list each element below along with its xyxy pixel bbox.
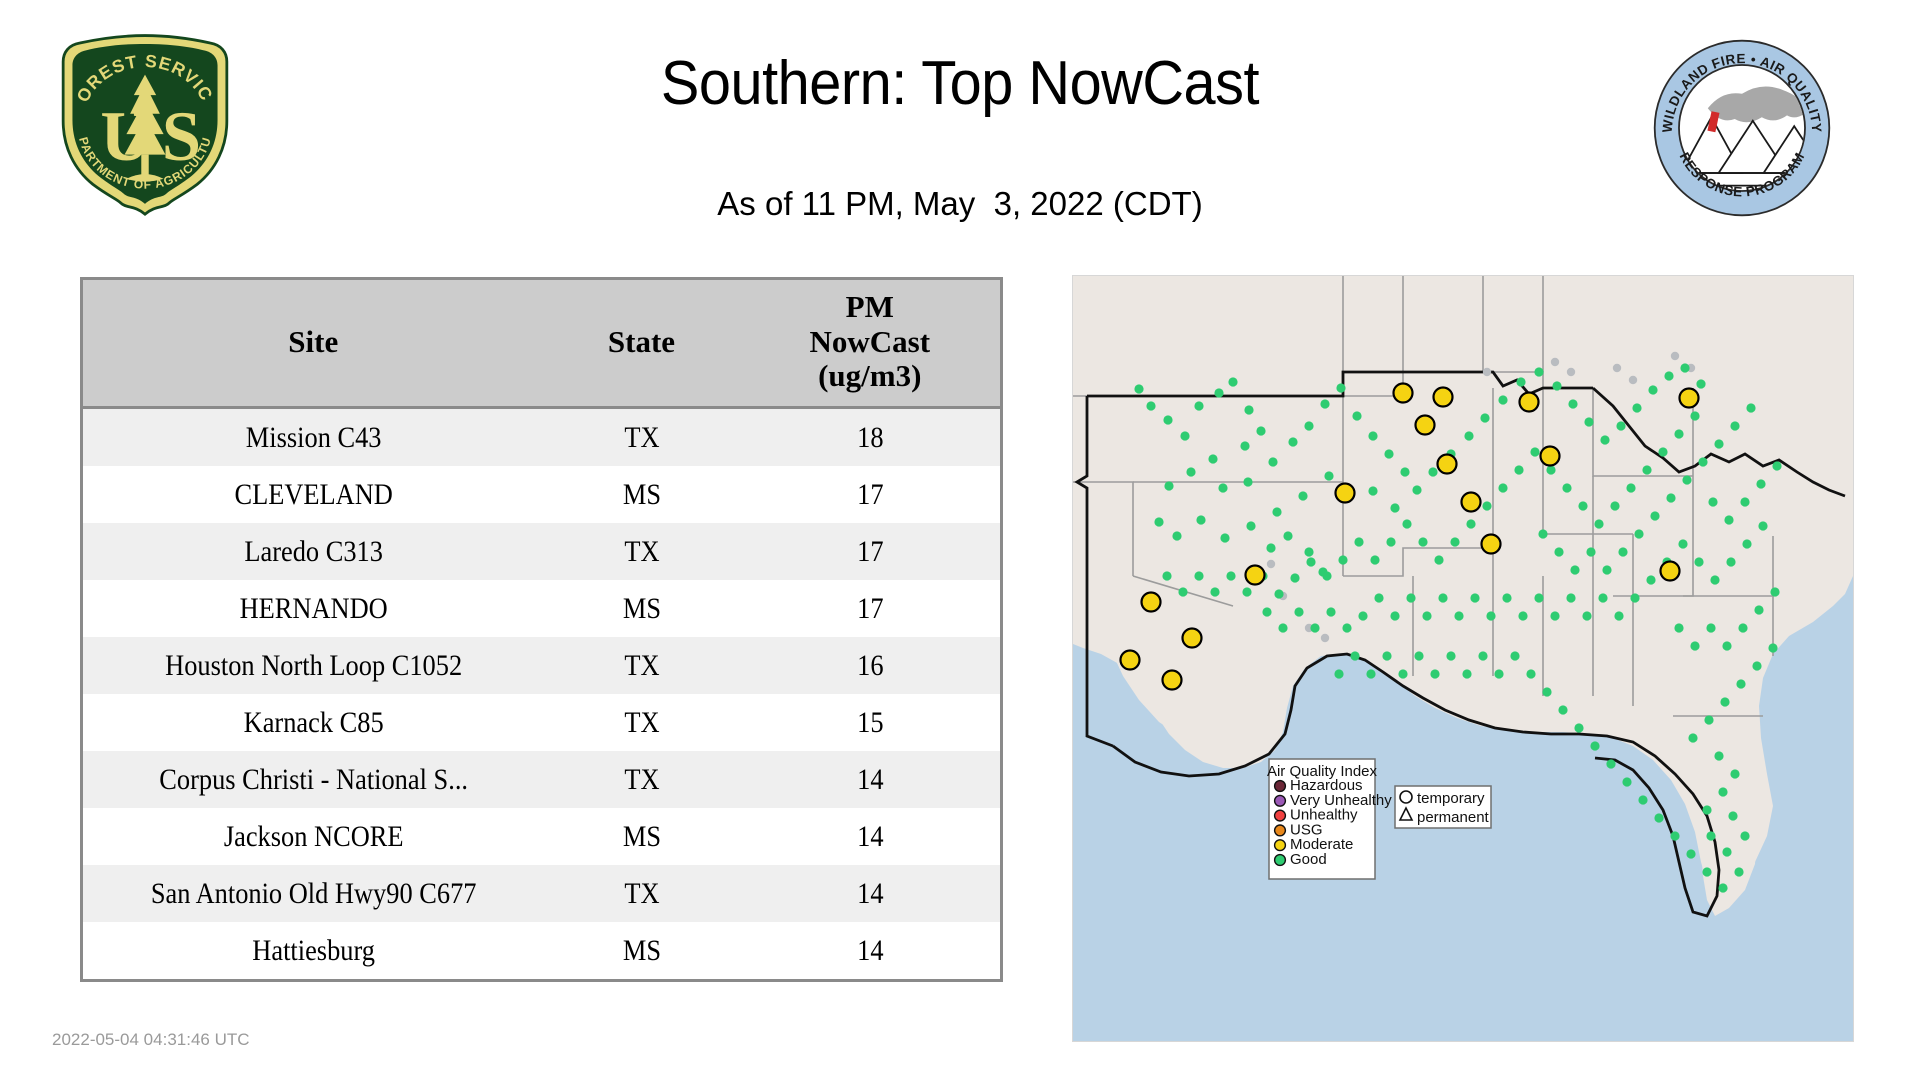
monitor-marker-good[interactable] (1582, 611, 1591, 620)
monitor-marker-good[interactable] (1494, 669, 1503, 678)
monitor-marker-good[interactable] (1402, 519, 1411, 528)
monitor-marker-good[interactable] (1714, 751, 1723, 760)
monitor-marker-good[interactable] (1498, 395, 1507, 404)
monitor-marker-good[interactable] (1262, 607, 1271, 616)
aqi-legend: Air Quality Index HazardousVery Unhealth… (1267, 759, 1392, 879)
monitor-marker-good[interactable] (1724, 515, 1733, 524)
page-header: FOREST SERVICE U S DEPARTMENT OF AGRICUL… (0, 0, 1920, 230)
monitor-marker-good[interactable] (1542, 687, 1551, 696)
table-row[interactable]: CLEVELANDMS17 (82, 466, 1002, 523)
monitor-marker-good[interactable] (1682, 475, 1691, 484)
monitor-marker-moderate[interactable] (1434, 388, 1453, 407)
monitor-marker-good[interactable] (1772, 461, 1781, 470)
site-cell: CLEVELAND (109, 466, 516, 523)
monitor-marker-good[interactable] (1450, 537, 1459, 546)
monitor-marker-good[interactable] (1526, 669, 1535, 678)
monitor-marker-good[interactable] (1243, 477, 1252, 486)
monitor-marker-inactive[interactable] (1551, 358, 1559, 366)
monitor-marker-good[interactable] (1578, 501, 1587, 510)
site-cell: San Antonio Old Hwy90 C677 (109, 865, 516, 922)
monitor-marker-good[interactable] (1594, 519, 1603, 528)
monitor-marker-good[interactable] (1480, 413, 1489, 422)
monitor-marker-good[interactable] (1384, 449, 1393, 458)
monitor-marker-good[interactable] (1214, 388, 1223, 397)
monitor-marker-good[interactable] (1674, 623, 1683, 632)
monitor-marker-moderate[interactable] (1183, 629, 1202, 648)
monitor-marker-good[interactable] (1558, 705, 1567, 714)
value-cell: 16 (755, 637, 986, 694)
monitor-marker-good[interactable] (1464, 431, 1473, 440)
monitor-marker-good[interactable] (1734, 867, 1743, 876)
table-row[interactable]: Houston North Loop C1052TX16 (82, 637, 1002, 694)
monitor-marker-good[interactable] (1318, 567, 1327, 576)
monitor-marker-good[interactable] (1694, 557, 1703, 566)
state-cell: MS (555, 808, 727, 865)
monitor-marker-good[interactable] (1510, 651, 1519, 660)
monitor-marker-good[interactable] (1386, 537, 1395, 546)
monitor-marker-good[interactable] (1566, 593, 1575, 602)
monitor-marker-inactive[interactable] (1567, 368, 1575, 376)
aqi-legend-label: Good (1290, 851, 1327, 868)
generation-timestamp: 2022-05-04 04:31:46 UTC (52, 1030, 250, 1050)
state-cell: TX (555, 637, 727, 694)
monitor-marker-good[interactable] (1466, 519, 1475, 528)
value-cell: 15 (755, 694, 986, 751)
monitor-marker-good[interactable] (1398, 669, 1407, 678)
monitor-marker-good[interactable] (1708, 497, 1717, 506)
value-cell: 14 (755, 922, 986, 981)
monitor-marker-moderate[interactable] (1462, 493, 1481, 512)
column-header-site[interactable]: Site (82, 279, 544, 408)
monitor-marker-moderate[interactable] (1541, 447, 1560, 466)
monitor-marker-moderate[interactable] (1661, 562, 1680, 581)
monitor-marker-good[interactable] (1642, 465, 1651, 474)
site-cell: Hattiesburg (109, 922, 516, 981)
monitor-marker-good[interactable] (1622, 777, 1631, 786)
monitor-marker-good[interactable] (1390, 611, 1399, 620)
monitor-marker-good[interactable] (1626, 483, 1635, 492)
monitor-marker-good[interactable] (1614, 611, 1623, 620)
column-header-pm-line2: NowCast (809, 324, 930, 359)
monitor-marker-good[interactable] (1738, 623, 1747, 632)
monitor-marker-good[interactable] (1720, 697, 1729, 706)
monitor-marker-good[interactable] (1680, 363, 1689, 372)
monitor-marker-good[interactable] (1146, 401, 1155, 410)
monitor-marker-moderate[interactable] (1246, 566, 1265, 585)
monitor-marker-good[interactable] (1478, 651, 1487, 660)
monitor-marker-good[interactable] (1210, 587, 1219, 596)
monitor-marker-good[interactable] (1678, 539, 1687, 548)
site-cell: Corpus Christi - National S... (109, 751, 516, 808)
column-header-pm-nowcast[interactable]: PM NowCast (ug/m3) (740, 279, 1002, 408)
monitor-marker-good[interactable] (1482, 501, 1491, 510)
monitor-marker-good[interactable] (1502, 593, 1511, 602)
monitor-marker-good[interactable] (1350, 651, 1359, 660)
monitor-marker-good[interactable] (1730, 769, 1739, 778)
monitor-marker-good[interactable] (1674, 429, 1683, 438)
monitor-marker-good[interactable] (1638, 795, 1647, 804)
monitor-marker-good[interactable] (1358, 611, 1367, 620)
monitor-marker-good[interactable] (1698, 457, 1707, 466)
monitor-marker-good[interactable] (1688, 733, 1697, 742)
monitor-marker-good[interactable] (1274, 589, 1283, 598)
value-cell: 14 (755, 865, 986, 922)
monitor-marker-good[interactable] (1256, 426, 1265, 435)
monitor-marker-good[interactable] (1726, 557, 1735, 566)
monitor-marker-good[interactable] (1702, 805, 1711, 814)
aqi-legend-swatch (1275, 840, 1286, 851)
state-cell: MS (555, 922, 727, 981)
state-cell: TX (555, 408, 727, 467)
monitor-marker-good[interactable] (1590, 741, 1599, 750)
monitor-marker-good[interactable] (1354, 537, 1363, 546)
monitor-marker-good[interactable] (1336, 383, 1345, 392)
monitor-marker-good[interactable] (1670, 831, 1679, 840)
monitor-marker-good[interactable] (1428, 467, 1437, 476)
monitor-marker-moderate[interactable] (1482, 535, 1501, 554)
value-cell: 18 (755, 408, 986, 467)
monitor-marker-good[interactable] (1228, 377, 1237, 386)
monitor-marker-good[interactable] (1742, 539, 1751, 548)
monitor-marker-good[interactable] (1196, 515, 1205, 524)
monitor-marker-inactive[interactable] (1267, 560, 1275, 568)
site-type-legend: temporary permanent (1395, 786, 1491, 828)
monitor-marker-good[interactable] (1770, 587, 1779, 596)
monitor-marker-good[interactable] (1368, 431, 1377, 440)
monitor-marker-good[interactable] (1730, 421, 1739, 430)
monitor-marker-good[interactable] (1414, 651, 1423, 660)
monitor-marker-good[interactable] (1758, 521, 1767, 530)
site-type-label-permanent: permanent (1417, 809, 1490, 826)
monitor-marker-good[interactable] (1646, 575, 1655, 584)
monitor-marker-good[interactable] (1320, 399, 1329, 408)
monitor-marker-good[interactable] (1706, 623, 1715, 632)
monitor-marker-good[interactable] (1186, 467, 1195, 476)
monitor-marker-moderate[interactable] (1416, 416, 1435, 435)
monitor-marker-good[interactable] (1714, 439, 1723, 448)
monitor-marker-moderate[interactable] (1520, 393, 1539, 412)
monitor-marker-moderate[interactable] (1142, 593, 1161, 612)
monitor-marker-good[interactable] (1574, 723, 1583, 732)
page-title: Southern: Top NowCast (67, 48, 1853, 119)
monitor-marker-good[interactable] (1740, 831, 1749, 840)
monitor-marker-good[interactable] (1304, 421, 1313, 430)
monitor-marker-good[interactable] (1342, 623, 1351, 632)
monitor-marker-good[interactable] (1352, 411, 1361, 420)
monitor-marker-good[interactable] (1634, 529, 1643, 538)
state-cell: MS (555, 466, 727, 523)
monitor-marker-moderate[interactable] (1163, 671, 1182, 690)
monitor-marker-good[interactable] (1283, 531, 1292, 540)
page-subtitle: As of 11 PM, May 3, 2022 (CDT) (0, 185, 1920, 223)
monitor-marker-good[interactable] (1586, 547, 1595, 556)
monitor-marker-good[interactable] (1562, 483, 1571, 492)
monitor-marker-good[interactable] (1690, 411, 1699, 420)
monitor-marker-moderate[interactable] (1394, 384, 1413, 403)
site-cell: Houston North Loop C1052 (109, 637, 516, 694)
monitor-marker-good[interactable] (1568, 399, 1577, 408)
monitor-marker-good[interactable] (1418, 537, 1427, 546)
monitor-marker-good[interactable] (1366, 669, 1375, 678)
monitor-marker-inactive[interactable] (1613, 364, 1621, 372)
monitor-marker-good[interactable] (1374, 593, 1383, 602)
monitor-marker-good[interactable] (1602, 565, 1611, 574)
state-cell: TX (555, 751, 727, 808)
monitor-marker-good[interactable] (1630, 593, 1639, 602)
monitor-marker-good[interactable] (1162, 571, 1171, 580)
monitor-marker-good[interactable] (1696, 379, 1705, 388)
monitor-marker-good[interactable] (1728, 811, 1737, 820)
wildland-fire-air-quality-seal-icon: WILDLAND FIRE • AIR QUALITY RESPONSE PRO… (1652, 38, 1832, 218)
monitor-marker-good[interactable] (1326, 607, 1335, 616)
monitor-marker-good[interactable] (1390, 503, 1399, 512)
monitor-marker-good[interactable] (1718, 883, 1727, 892)
monitor-marker-good[interactable] (1172, 531, 1181, 540)
monitor-marker-good[interactable] (1208, 454, 1217, 463)
monitor-marker-good[interactable] (1370, 555, 1379, 564)
nowcast-table-panel: Site State PM NowCast (ug/m3) Mission C4… (80, 277, 1000, 982)
monitor-marker-good[interactable] (1538, 529, 1547, 538)
monitor-marker-good[interactable] (1278, 623, 1287, 632)
monitor-marker-good[interactable] (1266, 543, 1275, 552)
aqi-legend-swatch (1275, 781, 1286, 792)
monitor-marker-good[interactable] (1163, 415, 1172, 424)
monitor-marker-good[interactable] (1618, 547, 1627, 556)
aqi-map[interactable]: Air Quality Index HazardousVery Unhealth… (1073, 276, 1853, 1041)
monitor-marker-good[interactable] (1740, 497, 1749, 506)
monitor-marker-good[interactable] (1498, 483, 1507, 492)
monitor-marker-good[interactable] (1288, 437, 1297, 446)
monitor-marker-inactive[interactable] (1321, 634, 1329, 642)
monitor-marker-good[interactable] (1710, 575, 1719, 584)
monitor-marker-good[interactable] (1654, 813, 1663, 822)
monitor-marker-good[interactable] (1554, 547, 1563, 556)
monitor-marker-good[interactable] (1746, 403, 1755, 412)
monitor-marker-good[interactable] (1534, 593, 1543, 602)
monitor-marker-good[interactable] (1368, 486, 1377, 495)
monitor-marker-good[interactable] (1244, 405, 1253, 414)
monitor-marker-good[interactable] (1550, 611, 1559, 620)
site-cell: HERNANDO (109, 580, 516, 637)
monitor-marker-good[interactable] (1382, 651, 1391, 660)
aqi-legend-swatch (1275, 825, 1286, 836)
monitor-marker-good[interactable] (1304, 547, 1313, 556)
state-cell: TX (555, 523, 727, 580)
site-type-label-temporary: temporary (1417, 790, 1485, 807)
monitor-marker-good[interactable] (1334, 669, 1343, 678)
site-cell: Jackson NCORE (109, 808, 516, 865)
monitor-marker-good[interactable] (1242, 587, 1251, 596)
monitor-marker-good[interactable] (1298, 491, 1307, 500)
monitor-marker-good[interactable] (1570, 565, 1579, 574)
monitor-marker-good[interactable] (1194, 401, 1203, 410)
monitor-marker-good[interactable] (1400, 467, 1409, 476)
monitor-marker-good[interactable] (1194, 571, 1203, 580)
site-cell: Karnack C85 (109, 694, 516, 751)
monitor-marker-good[interactable] (1664, 371, 1673, 380)
value-cell: 17 (755, 466, 986, 523)
table-row[interactable]: Karnack C85TX15 (82, 694, 1002, 751)
site-cell: Laredo C313 (109, 523, 516, 580)
table-row[interactable]: Jackson NCOREMS14 (82, 808, 1002, 865)
table-row[interactable]: Mission C43TX18 (82, 408, 1002, 467)
monitor-marker-good[interactable] (1164, 481, 1173, 490)
monitor-marker-good[interactable] (1756, 479, 1765, 488)
aqi-legend-swatch (1275, 795, 1286, 806)
monitor-marker-good[interactable] (1226, 571, 1235, 580)
monitor-marker-good[interactable] (1666, 493, 1675, 502)
nowcast-table: Site State PM NowCast (ug/m3) Mission C4… (80, 277, 1003, 982)
monitor-marker-good[interactable] (1422, 611, 1431, 620)
monitor-marker-good[interactable] (1584, 417, 1593, 426)
monitor-marker-good[interactable] (1706, 831, 1715, 840)
monitor-marker-good[interactable] (1470, 593, 1479, 602)
monitor-marker-good[interactable] (1600, 435, 1609, 444)
monitor-marker-good[interactable] (1514, 465, 1523, 474)
monitor-marker-good[interactable] (1768, 643, 1777, 652)
monitor-marker-moderate[interactable] (1438, 455, 1457, 474)
table-row[interactable]: HERNANDOMS17 (82, 580, 1002, 637)
monitor-marker-good[interactable] (1306, 557, 1315, 566)
monitor-marker-good[interactable] (1546, 465, 1555, 474)
monitor-marker-good[interactable] (1434, 555, 1443, 564)
aqi-map-panel[interactable]: Air Quality Index HazardousVery Unhealth… (1072, 275, 1854, 1042)
monitor-marker-good[interactable] (1718, 787, 1727, 796)
value-cell: 14 (755, 808, 986, 865)
monitor-marker-good[interactable] (1606, 759, 1615, 768)
monitor-marker-good[interactable] (1736, 679, 1745, 688)
column-header-pm-line3: (ug/m3) (818, 358, 921, 393)
column-header-state[interactable]: State (544, 279, 740, 408)
monitor-marker-good[interactable] (1290, 573, 1299, 582)
monitor-marker-good[interactable] (1438, 593, 1447, 602)
monitor-marker-inactive[interactable] (1671, 352, 1679, 360)
monitor-marker-good[interactable] (1530, 447, 1539, 456)
monitor-marker-moderate[interactable] (1121, 651, 1140, 670)
monitor-marker-moderate[interactable] (1680, 389, 1699, 408)
monitor-marker-good[interactable] (1272, 507, 1281, 516)
monitor-marker-good[interactable] (1178, 587, 1187, 596)
monitor-marker-good[interactable] (1180, 431, 1189, 440)
monitor-marker-good[interactable] (1430, 669, 1439, 678)
monitor-marker-good[interactable] (1658, 447, 1667, 456)
monitor-marker-good[interactable] (1134, 384, 1143, 393)
aqi-legend-swatch (1275, 810, 1286, 821)
monitor-marker-good[interactable] (1722, 847, 1731, 856)
monitor-marker-good[interactable] (1690, 641, 1699, 650)
site-cell: Mission C43 (109, 408, 516, 467)
monitor-marker-good[interactable] (1294, 607, 1303, 616)
monitor-marker-good[interactable] (1650, 511, 1659, 520)
monitor-marker-good[interactable] (1632, 403, 1641, 412)
monitor-marker-good[interactable] (1552, 381, 1561, 390)
monitor-marker-good[interactable] (1754, 605, 1763, 614)
monitor-marker-good[interactable] (1516, 377, 1525, 386)
monitor-marker-good[interactable] (1454, 611, 1463, 620)
aqi-legend-swatch (1275, 855, 1286, 866)
monitor-marker-good[interactable] (1518, 611, 1527, 620)
monitor-marker-good[interactable] (1446, 651, 1455, 660)
monitor-marker-good[interactable] (1218, 483, 1227, 492)
monitor-marker-good[interactable] (1648, 385, 1657, 394)
monitor-marker-good[interactable] (1722, 641, 1731, 650)
monitor-marker-good[interactable] (1486, 611, 1495, 620)
monitor-marker-good[interactable] (1246, 521, 1255, 530)
monitor-marker-good[interactable] (1616, 421, 1625, 430)
monitor-marker-good[interactable] (1338, 555, 1347, 564)
monitor-marker-good[interactable] (1324, 471, 1333, 480)
value-cell: 14 (755, 751, 986, 808)
state-cell: TX (555, 694, 727, 751)
monitor-marker-good[interactable] (1406, 593, 1415, 602)
table-body: Mission C43TX18CLEVELANDMS17Laredo C313T… (82, 408, 1002, 981)
value-cell: 17 (755, 523, 986, 580)
monitor-marker-good[interactable] (1702, 867, 1711, 876)
state-cell: MS (555, 580, 727, 637)
monitor-marker-inactive[interactable] (1629, 376, 1637, 384)
table-header-row: Site State PM NowCast (ug/m3) (82, 279, 1002, 408)
value-cell: 17 (755, 580, 986, 637)
monitor-marker-good[interactable] (1310, 623, 1319, 632)
table-row[interactable]: Laredo C313TX17 (82, 523, 1002, 580)
monitor-marker-good[interactable] (1534, 367, 1543, 376)
monitor-marker-good[interactable] (1220, 533, 1229, 542)
monitor-marker-good[interactable] (1268, 457, 1277, 466)
table-row[interactable]: Corpus Christi - National S...TX14 (82, 751, 1002, 808)
monitor-marker-good[interactable] (1240, 441, 1249, 450)
column-header-pm-line1: PM (846, 289, 894, 324)
table-row[interactable]: San Antonio Old Hwy90 C677TX14 (82, 865, 1002, 922)
monitor-marker-good[interactable] (1610, 501, 1619, 510)
monitor-marker-moderate[interactable] (1336, 484, 1355, 503)
monitor-marker-inactive[interactable] (1483, 368, 1491, 376)
monitor-marker-good[interactable] (1154, 517, 1163, 526)
table-row[interactable]: HattiesburgMS14 (82, 922, 1002, 981)
state-cell: TX (555, 865, 727, 922)
monitor-marker-good[interactable] (1752, 661, 1761, 670)
monitor-marker-good[interactable] (1412, 485, 1421, 494)
monitor-marker-good[interactable] (1462, 669, 1471, 678)
monitor-marker-good[interactable] (1704, 715, 1713, 724)
monitor-marker-good[interactable] (1598, 593, 1607, 602)
monitor-marker-good[interactable] (1686, 849, 1695, 858)
